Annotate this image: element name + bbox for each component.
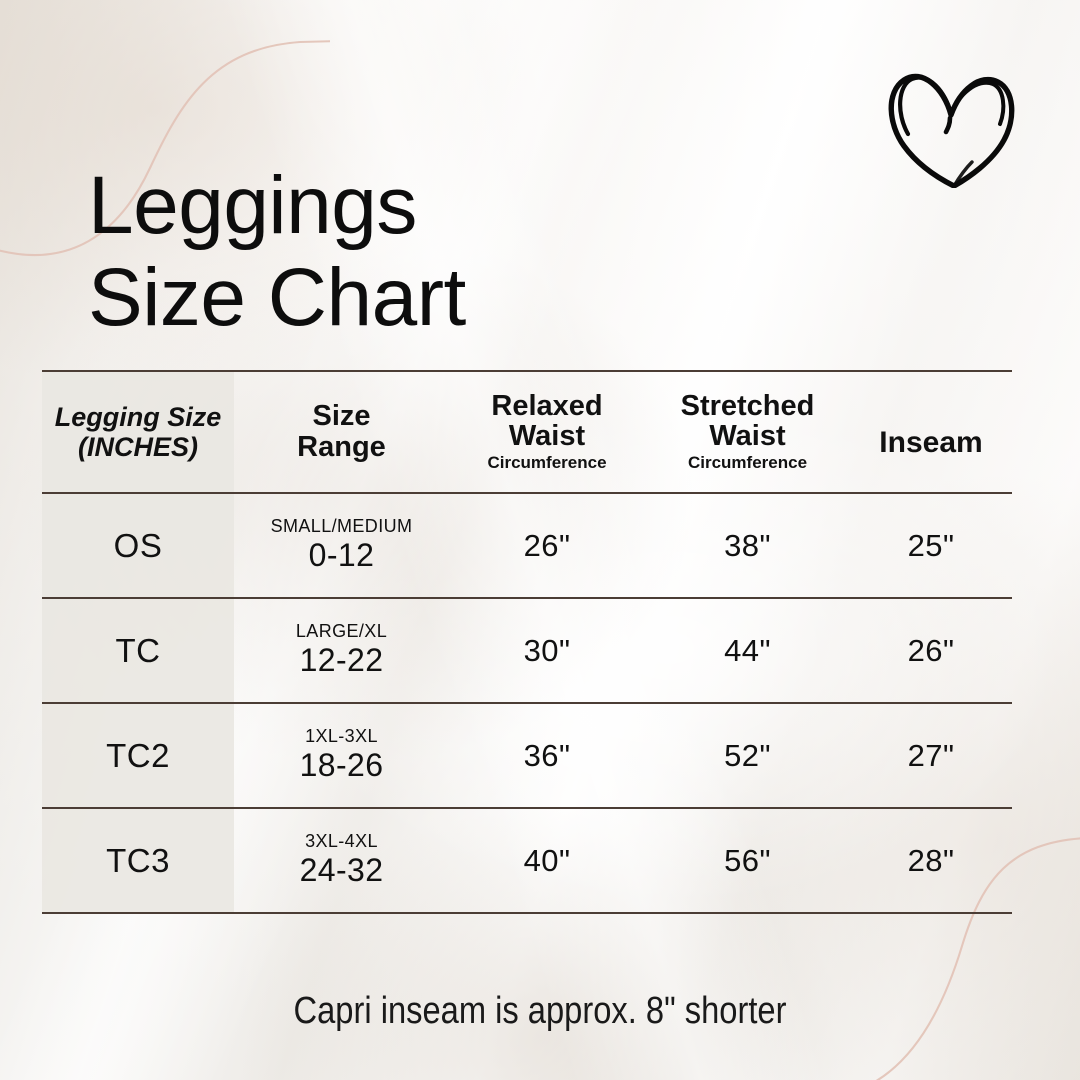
cell-size-range: 3XL-4XL 24-32 [234, 808, 449, 913]
cell-inseam: 27" [850, 703, 1012, 808]
cell-size-range: LARGE/XL 12-22 [234, 598, 449, 703]
cell-size: TC [42, 598, 234, 703]
size-table: Legging Size (INCHES) Size Range Relaxed… [42, 370, 1012, 914]
cell-relaxed-waist: 36" [449, 703, 645, 808]
table-row: TC LARGE/XL 12-22 30" 44" 26" [42, 598, 1012, 703]
cell-range-numbers: 0-12 [234, 537, 449, 575]
table-body: OS SMALL/MEDIUM 0-12 26" 38" 25" TC LARG… [42, 493, 1012, 913]
heart-doodle-icon [884, 58, 1019, 188]
table-row: TC2 1XL-3XL 18-26 36" 52" 27" [42, 703, 1012, 808]
cell-relaxed-waist: 26" [449, 493, 645, 598]
cell-stretched-waist: 38" [645, 493, 850, 598]
table-row: OS SMALL/MEDIUM 0-12 26" 38" 25" [42, 493, 1012, 598]
cell-range-numbers: 12-22 [234, 642, 449, 680]
cell-size: TC3 [42, 808, 234, 913]
cell-range-label: LARGE/XL [234, 622, 449, 642]
cell-size: OS [42, 493, 234, 598]
cell-relaxed-waist: 30" [449, 598, 645, 703]
header-size-range: Size Range [234, 371, 449, 493]
cell-range-label: 3XL-4XL [234, 832, 449, 852]
cell-inseam: 28" [850, 808, 1012, 913]
cell-stretched-waist: 56" [645, 808, 850, 913]
cell-range-label: SMALL/MEDIUM [234, 517, 449, 537]
cell-inseam: 26" [850, 598, 1012, 703]
header-relaxed-waist-main: Relaxed Waist [491, 390, 602, 453]
header-inseam: Inseam [850, 382, 1012, 504]
header-stretched-waist-sub: Circumference [645, 453, 850, 473]
cell-stretched-waist: 52" [645, 703, 850, 808]
size-table-wrapper: Legging Size (INCHES) Size Range Relaxed… [42, 370, 1012, 914]
cell-inseam: 25" [850, 493, 1012, 598]
header-relaxed-waist: Relaxed Waist Circumference [449, 371, 645, 493]
header-relaxed-waist-sub: Circumference [449, 453, 645, 473]
page-title: Leggings Size Chart [88, 160, 466, 344]
cell-size-range: SMALL/MEDIUM 0-12 [234, 493, 449, 598]
cell-size: TC2 [42, 703, 234, 808]
cell-size-range: 1XL-3XL 18-26 [234, 703, 449, 808]
header-stretched-waist-main: Stretched Waist [681, 390, 815, 453]
size-chart-canvas: Leggings Size Chart Legging Size (INCHES… [0, 0, 1080, 1080]
cell-range-numbers: 24-32 [234, 852, 449, 890]
cell-relaxed-waist: 40" [449, 808, 645, 913]
cell-range-label: 1XL-3XL [234, 727, 449, 747]
table-row: TC3 3XL-4XL 24-32 40" 56" 28" [42, 808, 1012, 913]
header-legging-size: Legging Size (INCHES) [42, 371, 234, 493]
capri-note: Capri inseam is approx. 8" shorter [76, 990, 1005, 1033]
header-stretched-waist: Stretched Waist Circumference [645, 371, 850, 493]
table-header-row: Legging Size (INCHES) Size Range Relaxed… [42, 371, 1012, 493]
cell-range-numbers: 18-26 [234, 747, 449, 785]
cell-stretched-waist: 44" [645, 598, 850, 703]
